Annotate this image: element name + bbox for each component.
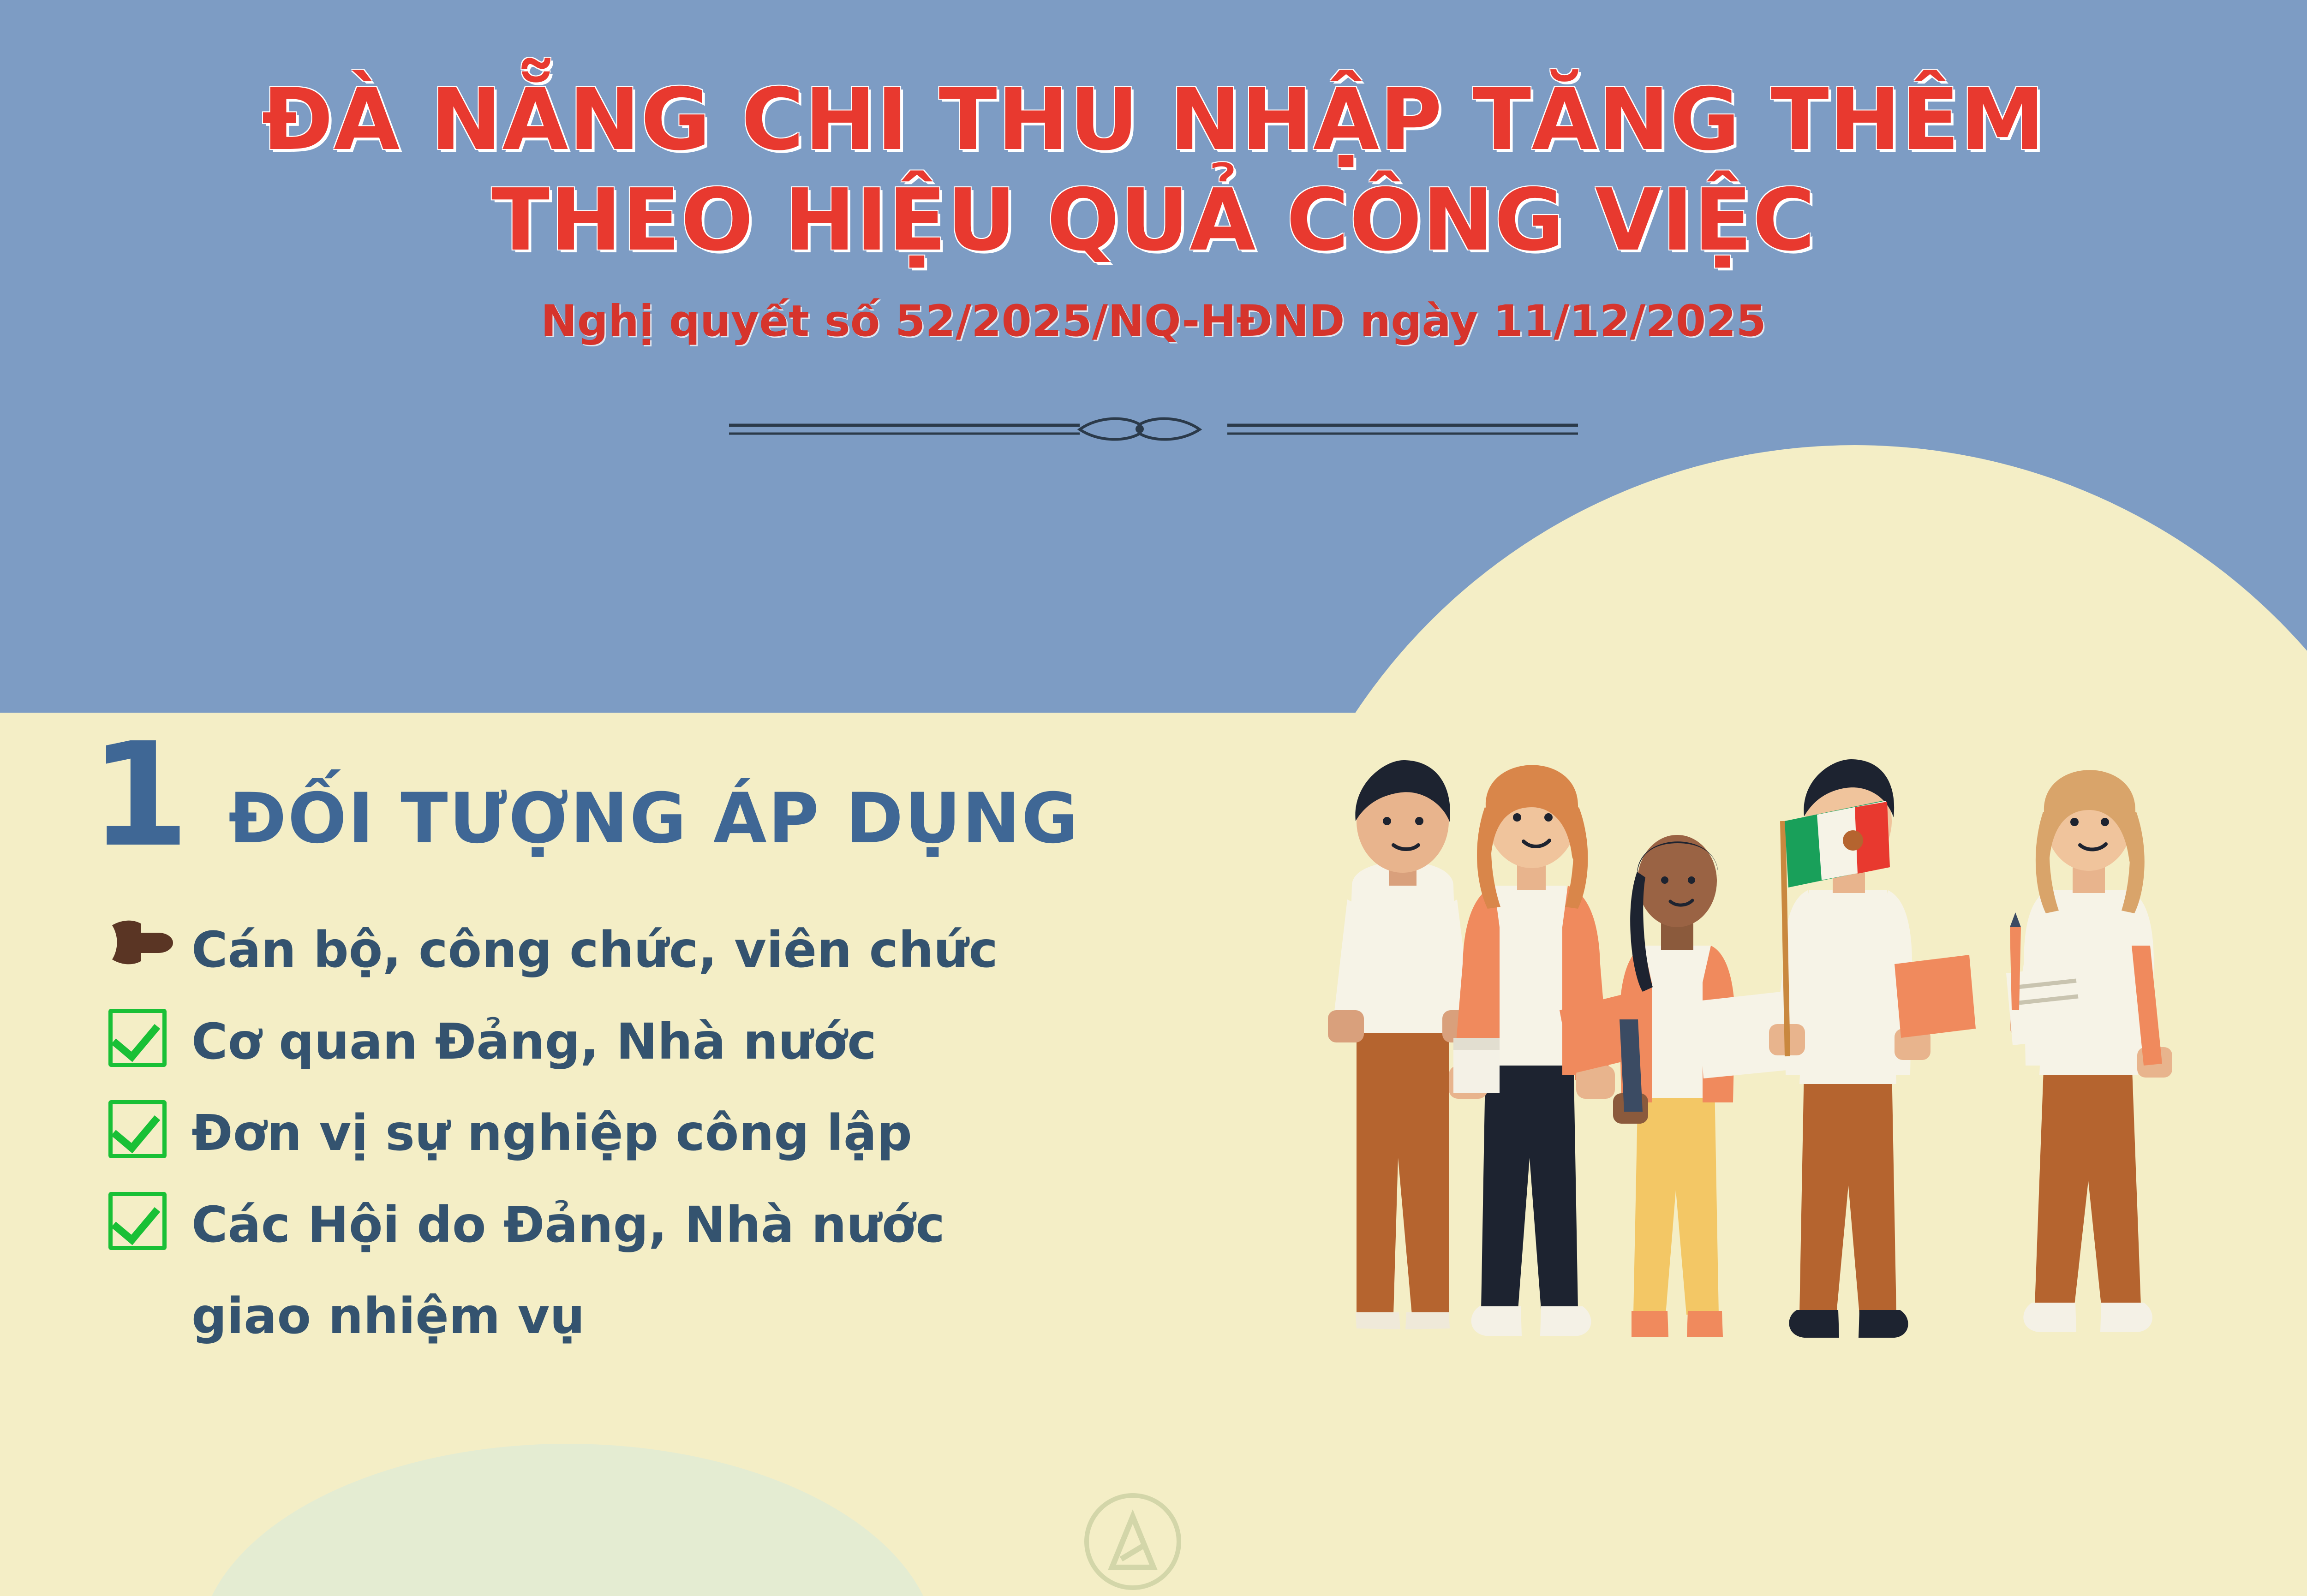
list-item: Các Hội do Đảng, Nhà nước — [108, 1188, 1308, 1263]
section-title: ĐỐI TƯỢNG ÁP DỤNG — [228, 784, 1080, 853]
person-4 — [1769, 759, 1976, 1338]
list-item-label: giao nhiệm vụ — [191, 1280, 585, 1354]
check-box-icon — [108, 1096, 191, 1158]
section-number: 1 — [90, 724, 187, 867]
list-item: Cơ quan Đảng, Nhà nước — [108, 1005, 1308, 1079]
page-title-line-1: ĐÀ NẴNG CHI THU NHẬP TĂNG THÊM — [0, 69, 2307, 170]
check-box-icon — [108, 1188, 191, 1250]
logo-watermark — [1057, 1490, 1209, 1596]
check-box-icon — [108, 1005, 191, 1067]
person-5 — [2006, 770, 2172, 1332]
page-subtitle: Nghị quyết số 52/2025/NQ-HĐND ngày 11/12… — [0, 296, 2307, 346]
page-title-line-2: THEO HIỆU QUẢ CÔNG VIỆC — [0, 170, 2307, 270]
infographic-poster: ĐÀ NẴNG CHI THU NHẬP TĂNG THÊM THEO HIỆU… — [0, 0, 2307, 1596]
pointing-hand-icon — [108, 913, 191, 968]
group-of-people-illustration — [1301, 669, 2261, 1416]
spacer — [108, 1280, 191, 1283]
person-2 — [1449, 765, 1645, 1336]
applicable-subjects-list: Cán bộ, công chức, viên chức Cơ quan Đản… — [108, 913, 1308, 1371]
person-3 — [1613, 835, 1787, 1337]
title-block: ĐÀ NẴNG CHI THU NHẬP TĂNG THÊM THEO HIỆU… — [0, 69, 2307, 346]
list-item-label: Cơ quan Đảng, Nhà nước — [191, 1005, 877, 1079]
ornament-divider-icon — [729, 415, 1578, 443]
list-item: Đơn vị sự nghiệp công lập — [108, 1096, 1308, 1171]
list-item: Cán bộ, công chức, viên chức — [108, 913, 1308, 988]
list-item-label: Các Hội do Đảng, Nhà nước — [191, 1188, 945, 1263]
list-item-label: Cán bộ, công chức, viên chức — [191, 913, 998, 988]
list-item-label: Đơn vị sự nghiệp công lập — [191, 1096, 912, 1171]
list-item-continuation: giao nhiệm vụ — [108, 1280, 1308, 1354]
